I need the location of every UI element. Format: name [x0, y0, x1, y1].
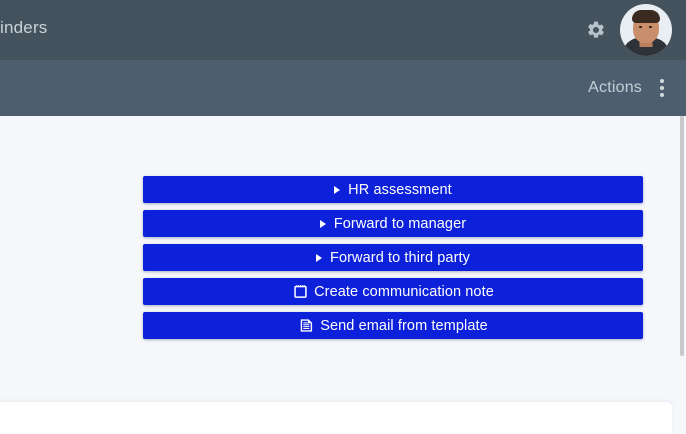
- send-email-from-template-button[interactable]: Send email from template: [143, 312, 643, 339]
- avatar-eye-left: [639, 26, 642, 28]
- content-area: HR assessment Forward to manager Forward…: [0, 116, 686, 434]
- avatar-eye-right: [649, 26, 652, 28]
- button-label: Send email from template: [320, 318, 488, 334]
- button-label: Forward to third party: [330, 250, 470, 266]
- kebab-dot: [660, 93, 664, 97]
- kebab-menu-icon[interactable]: [654, 78, 670, 98]
- play-triangle-icon: [316, 254, 322, 262]
- button-label: Forward to manager: [334, 216, 466, 232]
- forward-to-manager-button[interactable]: Forward to manager: [143, 210, 643, 237]
- button-label: Create communication note: [314, 284, 494, 300]
- page-title: inders: [0, 18, 48, 38]
- vertical-scrollbar-thumb[interactable]: [680, 116, 684, 356]
- bottom-panel-card: [0, 402, 672, 434]
- action-button-list: HR assessment Forward to manager Forward…: [143, 176, 643, 339]
- play-triangle-icon: [334, 186, 340, 194]
- kebab-dot: [660, 86, 664, 90]
- top-header-actions: [586, 0, 672, 60]
- avatar-hair: [632, 10, 660, 23]
- sticky-note-icon: [292, 284, 308, 300]
- kebab-dot: [660, 79, 664, 83]
- actions-menu-group[interactable]: Actions: [588, 60, 670, 116]
- avatar[interactable]: [620, 4, 672, 56]
- hr-assessment-button[interactable]: HR assessment: [143, 176, 643, 203]
- document-lines-icon: [298, 318, 314, 334]
- gear-icon[interactable]: [586, 20, 606, 40]
- actions-bar: Actions: [0, 60, 686, 116]
- button-label: HR assessment: [348, 182, 452, 198]
- create-communication-note-button[interactable]: Create communication note: [143, 278, 643, 305]
- actions-label[interactable]: Actions: [588, 79, 642, 97]
- app-window: inders Actions: [0, 0, 686, 434]
- top-header-bar: inders: [0, 0, 686, 60]
- play-triangle-icon: [320, 220, 326, 228]
- forward-to-third-party-button[interactable]: Forward to third party: [143, 244, 643, 271]
